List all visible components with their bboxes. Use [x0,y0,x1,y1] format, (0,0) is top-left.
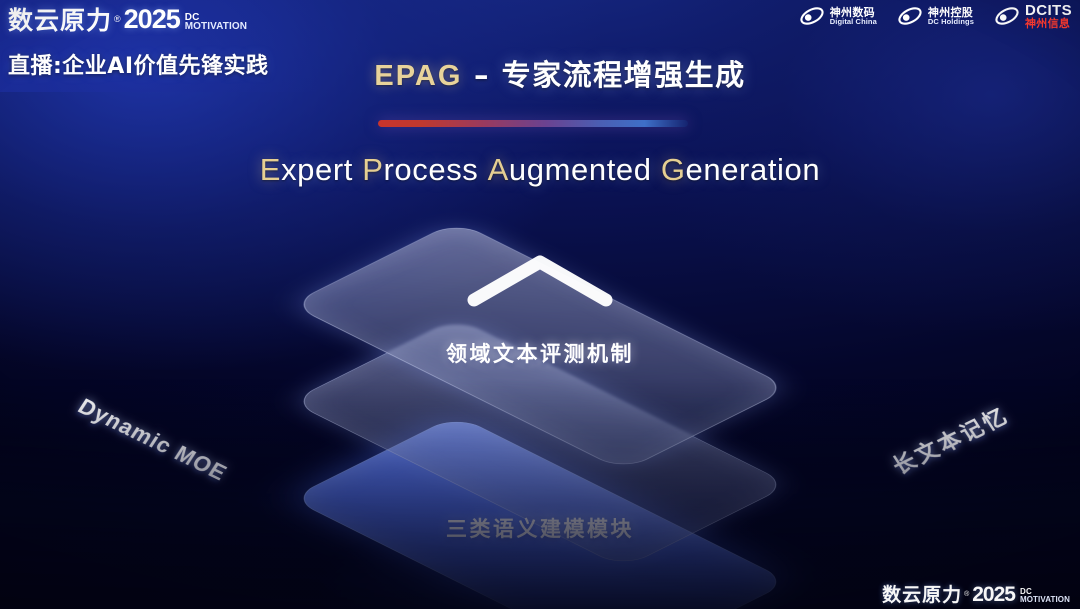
footer-registered-mark-icon: ® [964,591,969,598]
registered-mark-icon: ® [114,15,121,24]
footer-brand-logo: 数云原力 ® 2025 DC MOTIVATION [882,584,1070,605]
stack-label-middle-left: Dynamic MOE [73,394,232,487]
corp-name-cn: 神州信息 [1025,18,1072,29]
layer-stack-diagram: 领域文本评测机制 Dynamic MOE 长文本记忆 三类语义建模模块 [0,228,1080,588]
title-separator: – [462,58,501,92]
subtitle-rest-augmented: ugmented [509,152,652,187]
corp-logo-digital-china: 神州数码 Digital China [799,4,877,28]
subtitle-cap-p: P [362,152,383,187]
footer-brand-motivation-label: MOTIVATION [1020,596,1070,603]
subtitle-cap-a: A [488,152,509,187]
title-acronym: EPAG [374,60,462,92]
subtitle-cap-g: G [661,152,686,187]
brand-name-cn: 数云原力 [8,8,112,33]
swoosh-icon [897,4,923,28]
corp-name-en: DC Holdings [928,18,974,26]
chevron-up-icon [460,250,620,310]
swoosh-icon [994,4,1020,28]
swoosh-icon [799,4,825,28]
corp-text-dc-holdings: 神州控股 DC Holdings [928,7,974,26]
corp-text-digital-china: 神州数码 Digital China [830,7,877,26]
page-subtitle: Expert Process Augmented Generation [0,152,1080,188]
title-chinese: 专家流程增强生成 [502,58,746,92]
footer-brand-year: 2025 [972,584,1015,605]
subtitle-rest-generation: eneration [686,152,821,187]
title-divider [378,120,688,127]
subtitle-rest-expert: xpert [281,152,353,187]
corp-text-dcits: DCITS 神州信息 [1025,3,1072,30]
brand-year: 2025 [124,6,180,33]
brand-logo: 数云原力 ® 2025 DC MOTIVATION [8,6,247,33]
subtitle-space-2 [478,152,487,187]
subtitle-space-1 [353,152,362,187]
slide-canvas: 数云原力 ® 2025 DC MOTIVATION 直播:企业AI价值先锋实践 … [0,0,1080,609]
corp-logo-dc-holdings: 神州控股 DC Holdings [897,4,974,28]
stack-label-top: 领域文本评测机制 [0,338,1080,368]
brand-dc-motivation: DC MOTIVATION [185,13,247,31]
corp-name-en: DCITS [1025,3,1072,18]
corp-name-en: Digital China [830,18,877,26]
stack-label-bottom: 三类语义建模模块 [0,513,1080,543]
page-title: EPAG – 专家流程增强生成 [0,52,1080,94]
footer-brand-dc-motivation: DC MOTIVATION [1020,588,1070,603]
corporate-logo-row: 神州数码 Digital China 神州控股 DC Holdings DCIT… [799,3,1072,30]
footer-brand-name-cn: 数云原力 [882,586,962,605]
subtitle-cap-e: E [260,152,281,187]
subtitle-space-3 [652,152,661,187]
brand-motivation-label: MOTIVATION [185,22,247,31]
subtitle-rest-process: rocess [384,152,479,187]
stack-label-middle-right: 长文本记忆 [885,398,1015,480]
corp-logo-dcits: DCITS 神州信息 [994,3,1072,30]
